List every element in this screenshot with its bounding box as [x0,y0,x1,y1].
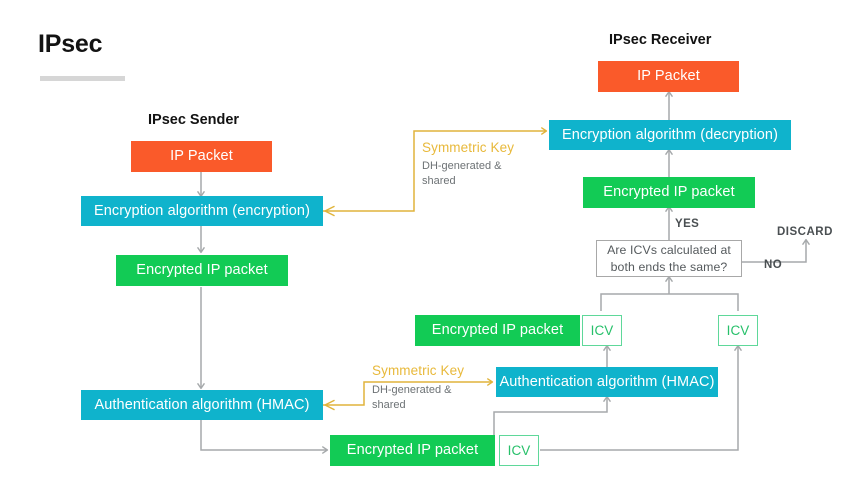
receiver-decryption-label: Encryption algorithm (decryption) [562,127,778,144]
decision-yes-label: YES [675,218,699,230]
sender-hmac-label: Authentication algorithm (HMAC) [94,397,309,414]
symmetric-key-auth-subtitle: DH-generated & shared [372,383,467,413]
sender-encryption-label: Encryption algorithm (encryption) [94,203,310,220]
sender-heading: IPsec Sender [148,112,239,128]
wire-icv-join-bus [601,294,738,311]
transmitted-icv-box[interactable]: ICV [499,435,539,466]
page-title: IPsec [38,30,102,59]
decision-question-label: Are ICVs calculated at both ends the sam… [603,242,735,275]
receiver-decryption-box[interactable]: Encryption algorithm (decryption) [549,120,791,150]
sender-encryption-box[interactable]: Encryption algorithm (encryption) [81,196,323,226]
receiver-recomputed-packet-label: Encrypted IP packet [432,322,563,339]
transmitted-packet-box[interactable]: Encrypted IP packet [330,435,495,466]
sender-encrypted-packet-label: Encrypted IP packet [136,262,267,279]
symmetric-key-encryption-title: Symmetric Key [422,140,514,155]
receiver-ip-packet-label: IP Packet [637,68,700,85]
discard-label: DISCARD [777,226,833,238]
recomputed-icv-box[interactable]: ICV [582,315,622,346]
receiver-hmac-box[interactable]: Authentication algorithm (HMAC) [496,367,718,397]
receiver-heading: IPsec Receiver [609,32,711,48]
sender-ip-packet-label: IP Packet [170,148,233,165]
ipsec-diagram: IPsec IPsec Sender IPsec Receiver IP Pac… [0,0,868,488]
sender-encrypted-packet-box[interactable]: Encrypted IP packet [116,255,288,286]
title-underline [40,76,125,81]
receiver-encrypted-packet-label: Encrypted IP packet [603,184,734,201]
icv-comparison-decision-box[interactable]: Are ICVs calculated at both ends the sam… [596,240,742,277]
receiver-recomputed-packet-box[interactable]: Encrypted IP packet [415,315,580,346]
wire-sender-hmac-to-transmitted [201,420,327,450]
transmitted-packet-label: Encrypted IP packet [347,442,478,459]
sender-hmac-box[interactable]: Authentication algorithm (HMAC) [81,390,323,420]
wire-transmitted-to-receiver-hmac [494,397,607,436]
symmetric-key-auth-title: Symmetric Key [372,363,464,378]
received-icv-box[interactable]: ICV [718,315,758,346]
symmetric-key-encryption-subtitle: DH-generated & shared [422,159,517,189]
transmitted-icv-label: ICV [508,443,531,459]
receiver-hmac-label: Authentication algorithm (HMAC) [499,374,714,391]
wire-transmitted-icv-to-received-icv [540,346,738,450]
received-icv-label: ICV [727,323,750,339]
sender-ip-packet-box[interactable]: IP Packet [131,141,272,172]
recomputed-icv-label: ICV [591,323,614,339]
decision-no-label: NO [764,259,782,271]
receiver-ip-packet-box[interactable]: IP Packet [598,61,739,92]
receiver-encrypted-packet-box[interactable]: Encrypted IP packet [583,177,755,208]
